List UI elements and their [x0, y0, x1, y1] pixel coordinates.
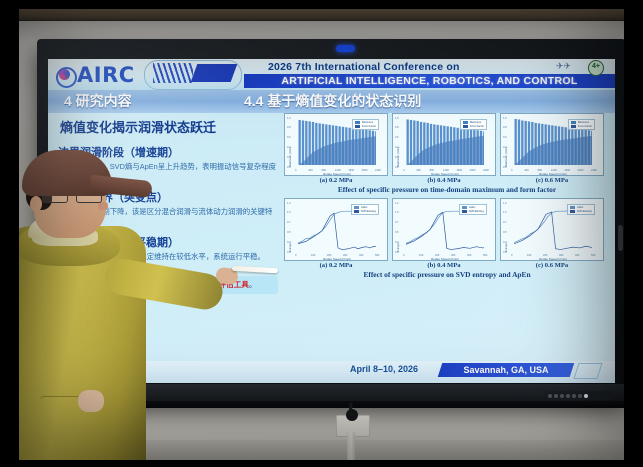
line-row-caption: Effect of specific pressure on SVD entro…	[284, 270, 610, 279]
power-led-indicator	[336, 45, 355, 52]
conference-badge: 4+	[588, 60, 604, 76]
bar-chart-row: Maximum (m/s²)Rotate Speed (r/min)0.00.2…	[284, 113, 610, 184]
x-tick-label: 2400	[375, 169, 381, 172]
y-tick-label: 0.6	[503, 136, 507, 139]
footer-location-badge: Savannah, GA, USA	[438, 363, 575, 377]
x-tick-label: 0	[403, 169, 404, 172]
presenter	[0, 148, 194, 467]
airplanes-icon: ✈✈	[556, 61, 580, 73]
x-axis-label: Rotate Speed (r/min)	[285, 257, 389, 261]
legend-entry: SVD Entropy	[354, 210, 376, 213]
y-tick-label: 1.0	[395, 211, 399, 214]
y-tick-label: 0.0	[287, 251, 291, 254]
legend-swatch	[462, 210, 467, 213]
y-tick-label: 1.0	[287, 117, 291, 120]
chart-legend: ApEnSVD Entropy	[567, 204, 595, 215]
x-tick-label: 300	[451, 254, 455, 257]
y-tick-label: 0.7	[287, 221, 291, 224]
x-tick-label: 2400	[483, 169, 489, 172]
scene-root: AIRC 2026 7th International Conference o…	[0, 0, 643, 467]
x-axis-label: Rotate Speed (r/min)	[393, 172, 497, 176]
slide-brand-band: AIRC 2026 7th International Conference o…	[48, 59, 615, 90]
chart-caption: (c) 0.6 MPa	[500, 177, 604, 184]
x-tick-label: 200	[327, 254, 331, 257]
y-tick-label: 1.2	[503, 202, 507, 205]
legend-swatch	[463, 125, 468, 128]
conference-line1: 2026 7th International Conference on	[268, 61, 460, 73]
legend-swatch	[463, 121, 468, 124]
x-tick-label: 300	[343, 254, 347, 257]
x-tick-label: 1200	[551, 169, 557, 172]
legend-entry: ApEn	[570, 206, 592, 209]
legend-label: Form Factor	[578, 125, 592, 128]
chart-legend: MaximumForm Factor	[460, 119, 487, 130]
slide-section-title: 4 研究内容	[64, 92, 132, 111]
y-tick-label: 0.7	[395, 221, 399, 224]
x-tick-label: 800	[538, 169, 542, 172]
legend-entry: SVD Entropy	[570, 210, 592, 213]
x-tick-label: 400	[308, 169, 312, 172]
conference-line2: ARTIFICIAL INTELLIGENCE, ROBOTICS, AND C…	[244, 74, 615, 88]
letterbox-right	[624, 0, 643, 467]
legend-swatch	[571, 121, 576, 124]
x-tick-label: 1600	[456, 169, 462, 172]
x-tick-label: 0	[511, 254, 512, 257]
x-tick-label: 500	[483, 254, 487, 257]
y-tick-label: 1.0	[503, 117, 507, 120]
y-tick-label: 0.8	[503, 126, 507, 129]
x-tick-label: 1600	[564, 169, 570, 172]
legend-swatch	[571, 125, 576, 128]
x-tick-label: 100	[527, 254, 531, 257]
left-heading: 熵值变化揭示润滑状态跃迁	[60, 117, 280, 136]
chart-legend: ApEnSVD Entropy	[459, 204, 487, 215]
x-tick-label: 800	[430, 169, 434, 172]
y-tick-label: 0.0	[503, 166, 507, 169]
chart-cell[interactable]: EntropyRotate Speed (r/min)0.00.20.50.71…	[392, 198, 496, 269]
legend-label: ApEn	[577, 206, 583, 209]
presenter-nose	[98, 202, 108, 210]
chart-cell[interactable]: Maximum (m/s²)Rotate Speed (r/min)0.00.2…	[500, 113, 604, 184]
legend-entry: Maximum	[463, 121, 484, 124]
legend-swatch	[462, 206, 467, 209]
x-tick-label: 400	[359, 254, 363, 257]
legend-entry: SVD Entropy	[462, 210, 484, 213]
y-tick-label: 1.0	[395, 117, 399, 120]
slide-title-bar: 4 研究内容 4.4 基于熵值变化的状态识别	[48, 90, 615, 113]
presenter-ear	[30, 196, 42, 212]
chart-cell[interactable]: Maximum (m/s²)Rotate Speed (r/min)0.00.2…	[284, 113, 388, 184]
x-axis-label: Rotate Speed (r/min)	[501, 257, 605, 261]
x-tick-label: 300	[559, 254, 563, 257]
legend-entry: Form Factor	[355, 125, 376, 128]
y-tick-label: 0.2	[503, 241, 507, 244]
y-tick-label: 0.4	[287, 146, 291, 149]
y-tick-label: 0.7	[503, 221, 507, 224]
y-tick-label: 0.0	[395, 251, 399, 254]
y-tick-label: 0.0	[395, 166, 399, 169]
x-tick-label: 400	[524, 169, 528, 172]
y-tick-label: 0.2	[287, 156, 291, 159]
legend-entry: Form Factor	[571, 125, 592, 128]
y-tick-label: 0.5	[503, 231, 507, 234]
y-tick-label: 1.2	[395, 202, 399, 205]
chart-legend: ApEnSVD Entropy	[351, 204, 379, 215]
display-side-button[interactable]	[618, 225, 623, 251]
legend-swatch	[355, 121, 360, 124]
legend-label: Maximum	[470, 121, 481, 124]
letterbox-bottom	[0, 460, 643, 467]
legend-swatch	[570, 210, 575, 213]
chart-caption: (a) 0.2 MPa	[284, 262, 388, 269]
legend-label: ApEn	[361, 206, 367, 209]
y-tick-label: 1.0	[287, 211, 291, 214]
x-tick-label: 1600	[348, 169, 354, 172]
footer-date: April 8–10, 2026	[350, 364, 418, 374]
y-tick-label: 1.2	[287, 202, 291, 205]
y-tick-label: 0.2	[287, 241, 291, 244]
bar-chart[interactable]: Maximum (m/s²)Rotate Speed (r/min)0.00.2…	[392, 113, 496, 176]
legend-label: Maximum	[578, 121, 589, 124]
line-chart-row: EntropyRotate Speed (r/min)0.00.20.50.71…	[284, 198, 610, 269]
wall-conduit	[347, 432, 355, 460]
x-axis-label: Rotate Speed (r/min)	[501, 172, 605, 176]
x-tick-label: 0	[295, 169, 296, 172]
y-tick-label: 0.6	[287, 136, 291, 139]
x-tick-label: 2400	[591, 169, 597, 172]
y-tick-label: 0.5	[395, 231, 399, 234]
letterbox-top	[0, 0, 643, 9]
y-tick-label: 0.2	[503, 156, 507, 159]
logo-parallelogram-decor	[191, 64, 238, 82]
airc-swirl-logo-icon	[54, 65, 75, 86]
bar-chart[interactable]: Maximum (m/s²)Rotate Speed (r/min)0.00.2…	[500, 113, 604, 176]
x-tick-label: 0	[511, 169, 512, 172]
x-tick-label: 200	[435, 254, 439, 257]
chart-cell[interactable]: EntropyRotate Speed (r/min)0.00.20.50.71…	[500, 198, 604, 269]
x-axis-label: Rotate Speed (r/min)	[285, 172, 389, 176]
chart-legend: MaximumForm Factor	[568, 119, 595, 130]
legend-entry: ApEn	[462, 206, 484, 209]
legend-label: ApEn	[469, 206, 475, 209]
conclusion-suffix: 。	[249, 280, 257, 289]
chart-caption: (b) 0.4 MPa	[392, 177, 496, 184]
x-tick-label: 0	[403, 254, 404, 257]
legend-label: SVD Entropy	[577, 210, 592, 213]
display-control-buttons[interactable]	[545, 391, 614, 400]
chart-caption: (a) 0.2 MPa	[284, 177, 388, 184]
legend-entry: Form Factor	[463, 125, 484, 128]
x-axis-label: Rotate Speed (r/min)	[393, 257, 497, 261]
bar-chart[interactable]: Maximum (m/s²)Rotate Speed (r/min)0.00.2…	[284, 113, 388, 176]
x-tick-label: 2000	[470, 169, 476, 172]
bar-row-caption: Effect of specific pressure on time-doma…	[284, 185, 610, 194]
x-tick-label: 100	[311, 254, 315, 257]
y-tick-label: 1.0	[503, 211, 507, 214]
x-tick-label: 100	[419, 254, 423, 257]
x-tick-label: 500	[591, 254, 595, 257]
legend-swatch	[354, 206, 359, 209]
line-chart[interactable]: EntropyRotate Speed (r/min)0.00.20.50.71…	[284, 198, 388, 261]
chart-caption: (b) 0.4 MPa	[392, 262, 496, 269]
y-tick-label: 0.4	[395, 146, 399, 149]
presenter-hand-resting	[78, 390, 104, 412]
x-tick-label: 1200	[335, 169, 341, 172]
logo-text: AIRC	[77, 65, 135, 86]
legend-entry: ApEn	[354, 206, 376, 209]
legend-label: Form Factor	[362, 125, 376, 128]
legend-label: Form Factor	[470, 125, 484, 128]
y-tick-label: 0.2	[395, 241, 399, 244]
y-tick-label: 0.8	[395, 126, 399, 129]
slide-subsection-title: 4.4 基于熵值变化的状态识别	[244, 92, 421, 111]
chart-cell[interactable]: EntropyRotate Speed (r/min)0.00.20.50.71…	[284, 198, 388, 269]
x-tick-label: 400	[467, 254, 471, 257]
footer-tail-decor	[573, 363, 602, 379]
chart-legend: MaximumForm Factor	[352, 119, 379, 130]
y-tick-label: 0.0	[287, 166, 291, 169]
legend-swatch	[355, 125, 360, 128]
y-tick-label: 0.2	[395, 156, 399, 159]
legend-label: Maximum	[362, 121, 373, 124]
logo-stripes-decor	[153, 63, 193, 83]
y-tick-label: 0.0	[503, 251, 507, 254]
chart-cell[interactable]: Maximum (m/s²)Rotate Speed (r/min)0.00.2…	[392, 113, 496, 184]
letterbox-left	[0, 0, 19, 467]
legend-swatch	[570, 206, 575, 209]
x-tick-label: 400	[416, 169, 420, 172]
y-tick-label: 0.6	[395, 136, 399, 139]
conference-header: 2026 7th International Conference on ART…	[244, 60, 615, 90]
y-tick-label: 0.8	[287, 126, 291, 129]
x-tick-label: 500	[375, 254, 379, 257]
legend-label: SVD Entropy	[361, 210, 376, 213]
slide-right-column: Maximum (m/s²)Rotate Speed (r/min)0.00.2…	[284, 113, 610, 283]
legend-entry: Maximum	[355, 121, 376, 124]
y-tick-label: 0.4	[503, 146, 507, 149]
x-tick-label: 800	[322, 169, 326, 172]
legend-label: SVD Entropy	[469, 210, 484, 213]
footer-location-text: Savannah, GA, USA	[440, 363, 572, 377]
legend-swatch	[354, 210, 359, 213]
line-chart[interactable]: EntropyRotate Speed (r/min)0.00.20.50.71…	[392, 198, 496, 261]
x-tick-label: 200	[543, 254, 547, 257]
chart-caption: (c) 0.6 MPa	[500, 262, 604, 269]
line-chart[interactable]: EntropyRotate Speed (r/min)0.00.20.50.71…	[500, 198, 604, 261]
x-tick-label: 1200	[443, 169, 449, 172]
x-tick-label: 2000	[362, 169, 368, 172]
x-tick-label: 0	[295, 254, 296, 257]
legend-entry: Maximum	[571, 121, 592, 124]
x-tick-label: 400	[575, 254, 579, 257]
y-tick-label: 0.5	[287, 231, 291, 234]
x-tick-label: 2000	[578, 169, 584, 172]
